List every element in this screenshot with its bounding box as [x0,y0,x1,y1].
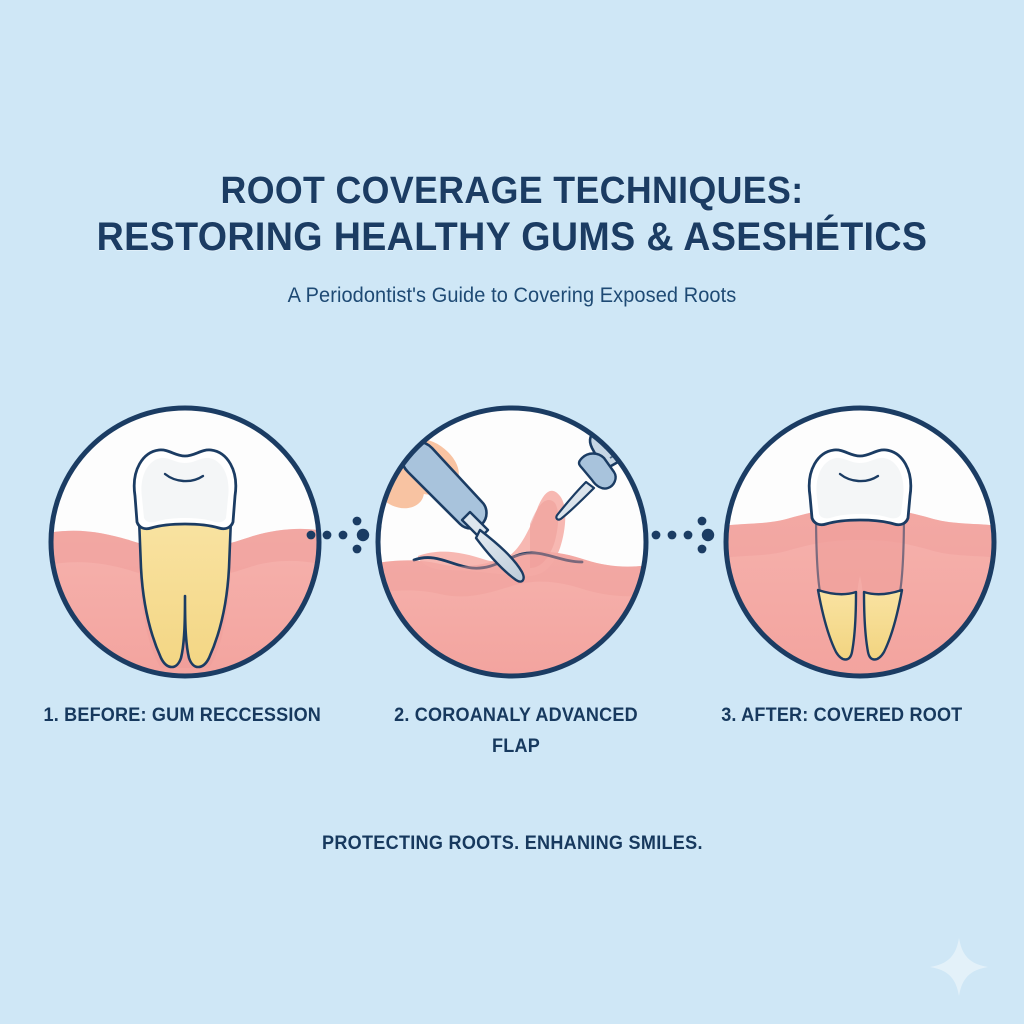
sparkle-star-icon [928,936,990,998]
tooth-receded-gum-illustration [43,400,327,684]
dotted-arrow-right-icon [650,508,720,562]
caption-panel-after: 3. AFTER: COVERED ROOT [721,700,995,731]
header: ROOT COVERAGE TECHNIQUES: RESTORING HEAL… [0,168,1024,308]
flap-surgery-illustration [370,400,654,684]
page-title-line-1: ROOT COVERAGE TECHNIQUES: [31,168,994,214]
panel-before [43,400,327,684]
connector-1 [305,508,375,562]
dotted-arrow-right-icon [305,508,375,562]
panel-procedure [370,400,654,684]
caption-row: 1. BEFORE: GUM RECCESSION 2. COROANALY A… [0,700,1024,790]
tooth-covered-root-illustration [718,400,1002,684]
panel-after [718,400,1002,684]
connector-2 [650,508,720,562]
page-title-line-2: RESTORING HEALTHY GUMS & ASESHÉTICS [31,214,994,260]
caption-panel-procedure: 2. COROANALY ADVANCED FLAP [391,700,642,762]
page-subtitle: A Periodontist's Guide to Covering Expos… [26,284,999,308]
footer: PROTECTING ROOTS. ENHANING SMILES. [0,833,1024,855]
panel-row [0,400,1024,690]
sparkle-decoration [928,936,990,998]
footer-tagline: PROTECTING ROOTS. ENHANING SMILES. [322,833,703,855]
infographic-canvas: ROOT COVERAGE TECHNIQUES: RESTORING HEAL… [0,0,1024,1024]
caption-panel-before: 1. BEFORE: GUM RECCESSION [44,700,329,731]
